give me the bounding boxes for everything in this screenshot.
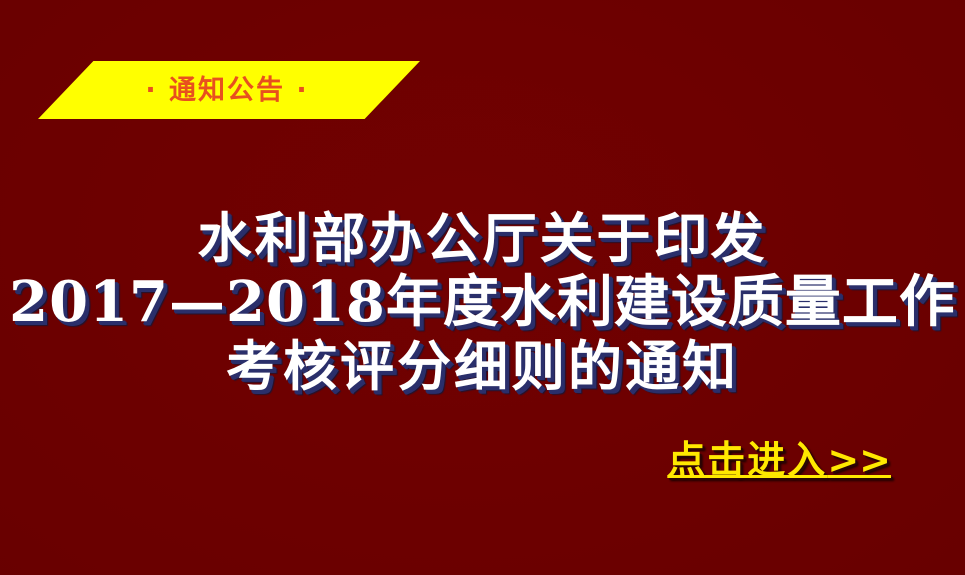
enter-link[interactable]: 点击进入>> xyxy=(667,437,891,483)
title-line-3: 考核评分细则的通知 xyxy=(0,334,965,398)
double-chevron-right-icon: >> xyxy=(827,438,891,482)
announcement-title: 水利部办公厅关于印发 2017—2018年度水利建设质量工作 考核评分细则的通知 xyxy=(0,206,965,398)
announcement-poster: · 通知公告 · 水利部办公厅关于印发 2017—2018年度水利建设质量工作 … xyxy=(0,0,965,575)
enter-link-label: 点击进入 xyxy=(667,437,827,482)
title-line-2: 2017—2018年度水利建设质量工作 xyxy=(0,270,965,334)
notice-banner: · 通知公告 · xyxy=(38,61,420,119)
title-line-1: 水利部办公厅关于印发 xyxy=(0,206,965,270)
banner-label: · 通知公告 · xyxy=(38,61,420,119)
